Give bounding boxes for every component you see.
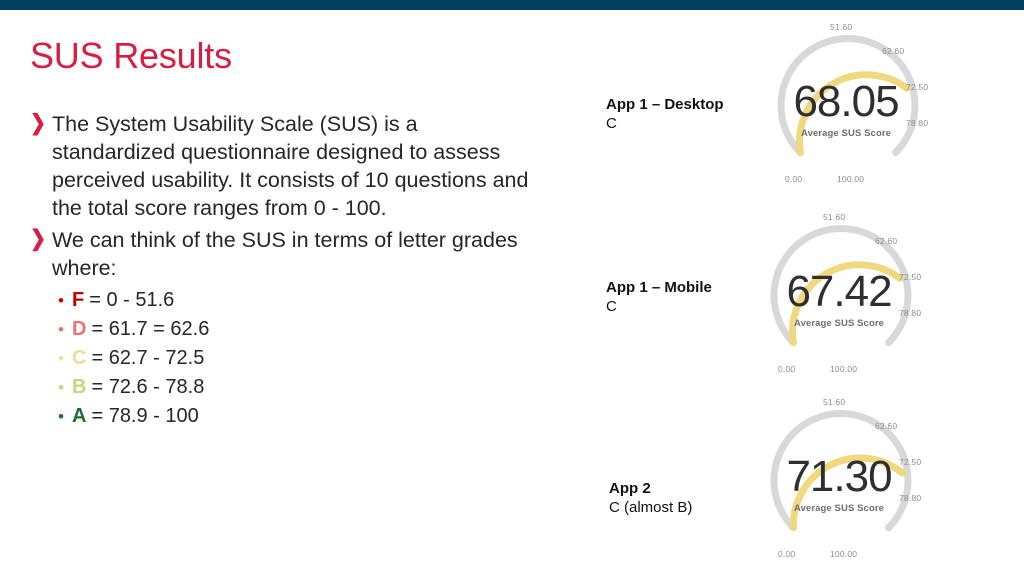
- gauge-tick-bottom-right: 100.00: [830, 364, 857, 374]
- gauge-score-caption: Average SUS Score: [769, 318, 909, 329]
- grade-list: • F = 0 - 51.6 • D = 61.7 = 62.6 • C = 6…: [58, 286, 544, 431]
- gauge-tick-top: 51.60: [823, 212, 845, 222]
- slide: SUS Results ❯ The System Usability Scale…: [0, 0, 1024, 575]
- bullet-text: We can think of the SUS in terms of lett…: [52, 226, 544, 282]
- gauge-donut-app2: 51.60 62.60 72.50 78.80 0.00 100.00 71.3…: [771, 405, 911, 555]
- grade-bullet-dot-icon: •: [58, 344, 72, 373]
- gauge-grade: C (almost B): [609, 498, 692, 517]
- gauge-tick-bottom-right: 100.00: [837, 174, 864, 184]
- grade-range: = 72.6 - 78.8: [91, 373, 204, 402]
- gauge-title: App 2: [609, 479, 692, 498]
- grade-range: = 62.7 - 72.5: [91, 344, 204, 373]
- gauge-tick-top: 51.60: [823, 397, 845, 407]
- gauge-score-caption: Average SUS Score: [776, 128, 916, 139]
- gauge-score-value: 67.42: [769, 270, 909, 314]
- grade-letter: B: [72, 373, 86, 402]
- grade-bullet-dot-icon: •: [58, 315, 72, 344]
- grade-row-d: • D = 61.7 = 62.6: [58, 315, 544, 344]
- grade-bullet-dot-icon: •: [58, 402, 72, 431]
- body-content: ❯ The System Usability Scale (SUS) is a …: [24, 110, 544, 431]
- gauge-grade: C: [606, 114, 724, 133]
- gauge-tick-bottom-left: 0.00: [778, 549, 795, 559]
- gauge-tick-bottom-left: 0.00: [785, 174, 802, 184]
- gauge-score-value: 68.05: [776, 80, 916, 124]
- gauge-donut-app1-mobile: 51.60 62.60 72.50 78.80 0.00 100.00 67.4…: [771, 220, 911, 370]
- gauge-score-caption: Average SUS Score: [769, 503, 909, 514]
- grade-range: = 78.9 - 100: [91, 402, 198, 431]
- grade-row-a: • A = 78.9 - 100: [58, 402, 544, 431]
- gauge-label-app2: App 2 C (almost B): [609, 479, 692, 517]
- top-accent-bar: [0, 0, 1024, 10]
- grade-row-c: • C = 62.7 - 72.5: [58, 344, 544, 373]
- page-title: SUS Results: [30, 36, 232, 76]
- gauge-score-value: 71.30: [769, 455, 909, 499]
- grade-letter: D: [72, 315, 86, 344]
- gauge-title: App 1 – Desktop: [606, 95, 724, 114]
- bullet-item: ❯ We can think of the SUS in terms of le…: [24, 226, 544, 282]
- grade-letter: A: [72, 402, 86, 431]
- gauge-donut-app1-desktop: 51.60 62.60 72.50 78.80 0.00 100.00 68.0…: [778, 30, 918, 180]
- bullet-text: The System Usability Scale (SUS) is a st…: [52, 110, 544, 222]
- gauge-tick-bottom-left: 0.00: [778, 364, 795, 374]
- gauge-label-app1-desktop: App 1 – Desktop C: [606, 95, 724, 133]
- grade-row-b: • B = 72.6 - 78.8: [58, 373, 544, 402]
- bullet-item: ❯ The System Usability Scale (SUS) is a …: [24, 110, 544, 222]
- gauge-grade: C: [606, 297, 712, 316]
- gauge-tick-upper-right: 62.60: [875, 236, 897, 246]
- gauge-tick-upper-right: 62.60: [882, 46, 904, 56]
- grade-bullet-dot-icon: •: [58, 286, 72, 315]
- grade-letter: C: [72, 344, 86, 373]
- chevron-bullet-icon: ❯: [24, 224, 52, 256]
- grade-range: = 61.7 = 62.6: [91, 315, 209, 344]
- gauge-tick-top: 51.60: [830, 22, 852, 32]
- grade-row-f: • F = 0 - 51.6: [58, 286, 544, 315]
- gauge-tick-upper-right: 62.60: [875, 421, 897, 431]
- gauge-title: App 1 – Mobile: [606, 278, 712, 297]
- chevron-bullet-icon: ❯: [24, 108, 52, 140]
- grade-letter: F: [72, 286, 84, 315]
- gauge-label-app1-mobile: App 1 – Mobile C: [606, 278, 712, 316]
- grade-bullet-dot-icon: •: [58, 373, 72, 402]
- grade-range: = 0 - 51.6: [89, 286, 174, 315]
- gauge-tick-bottom-right: 100.00: [830, 549, 857, 559]
